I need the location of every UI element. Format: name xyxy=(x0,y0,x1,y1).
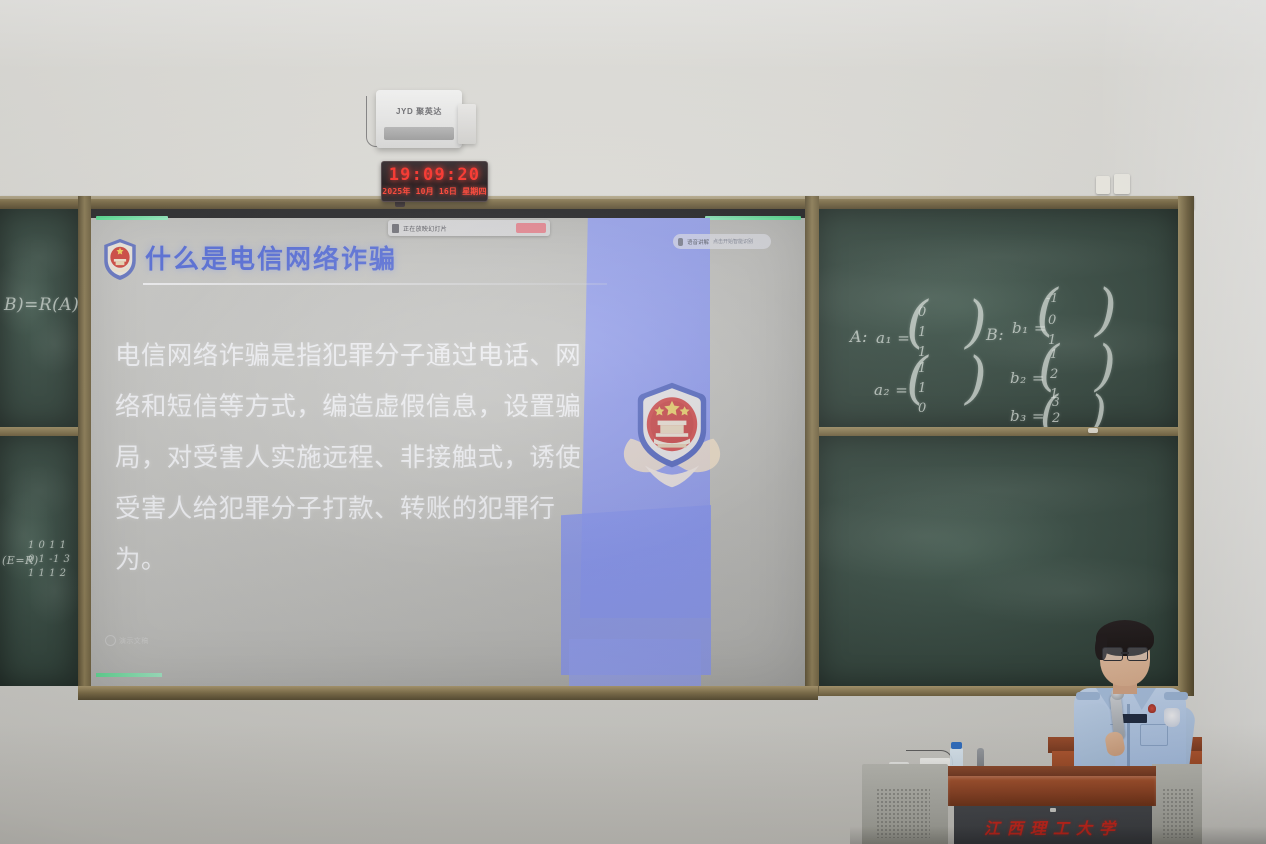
presenter-glasses xyxy=(1102,647,1148,659)
clock-date-display: 2025年 10月 16日 星期四 xyxy=(382,186,487,197)
end-slideshow-button[interactable] xyxy=(516,223,546,233)
glasses-lens-left xyxy=(1102,647,1123,661)
slide-body-text: 电信网络诈骗是指犯罪分子通过电话、网络和短信等方式，编造虚假信息，设置骗局，对受… xyxy=(115,331,583,586)
wall-control-device[interactable]: JYD 聚英达 xyxy=(376,90,462,148)
wall-device-secondary xyxy=(458,104,476,144)
board-rail-highlight xyxy=(0,196,1194,199)
podium-wood-panel xyxy=(948,776,1156,806)
chalk-text-left-b3: 0 1 -1 3 xyxy=(28,554,70,565)
voice-assist-label: 语音讲解 xyxy=(687,238,709,246)
device-vent xyxy=(384,127,454,140)
slide-police-badge-icon xyxy=(99,237,141,281)
chalk-stick xyxy=(1088,428,1098,433)
screen-top-bar xyxy=(91,209,805,218)
watermark-label: 演示文稿 xyxy=(119,636,149,646)
clock-time-display: 19:09:20 xyxy=(382,165,487,185)
presenter-epaulet-right xyxy=(1164,692,1188,700)
chalk-text-left-b2: 1 0 1 1 xyxy=(28,540,67,551)
chalk-smear xyxy=(818,209,1178,427)
classroom-scene: B)=R(A) (E=R) 1 0 1 1 0 1 -1 3 1 1 1 2 A… xyxy=(0,0,1266,844)
chalk-stick xyxy=(1096,176,1110,194)
device-brand-label: JYD 聚英达 xyxy=(376,106,462,117)
slide-decor-panel-3 xyxy=(569,639,701,686)
chalk-vector-a2-name: a₂ = xyxy=(874,381,908,399)
accent-strip-left xyxy=(96,216,168,220)
board-post-left xyxy=(78,196,91,696)
watermark-circle-icon xyxy=(105,635,116,646)
led-wall-clock: 19:09:20 2025年 10月 16日 星期四 xyxy=(381,161,488,202)
presenter-pocket-right xyxy=(1140,724,1168,746)
chalk-smear xyxy=(0,209,78,427)
slideshow-status-label: 正在放映幻灯片 xyxy=(403,224,512,233)
chalk-bracket-b1: ( ) xyxy=(1036,283,1117,339)
projection-screen[interactable]: 什么是电信网络诈骗 电信网络诈骗是指犯罪分子通过电话、网络和短信等方式，编造虚假… xyxy=(91,209,805,686)
presenter-epaulet-left xyxy=(1076,692,1100,700)
slideshow-toolbar[interactable]: 正在放映幻灯片 xyxy=(388,220,550,236)
accent-strip-bottom-left xyxy=(96,673,162,677)
glasses-bridge xyxy=(1121,652,1129,654)
board-post-middle xyxy=(805,196,819,696)
floor-shadow xyxy=(850,826,1266,844)
slide-title-divider xyxy=(143,283,607,285)
slide-watermark: 演示文稿 xyxy=(105,635,149,646)
blackboard-left-ledge xyxy=(0,427,78,436)
blackboard-right-upper: A: a₁ = 0 1 1 ( ) a₂ = 1 1 0 ( ) B: b₁ =… xyxy=(818,209,1178,427)
voice-assist-sublabel: 点击开始智能识别 xyxy=(713,238,753,245)
wall-top-highlight xyxy=(0,0,1266,70)
screen-bottom-rail xyxy=(78,686,818,700)
presentation-icon xyxy=(392,224,399,233)
slide-title: 什么是电信网络诈骗 xyxy=(145,239,397,276)
police-emblem-icon xyxy=(618,379,726,491)
microphone-icon xyxy=(678,238,683,246)
voice-assist-pill[interactable]: 语音讲解 点击开始智能识别 xyxy=(673,234,771,249)
chalk-label-B: B: xyxy=(986,325,1004,344)
blackboard-right-ledge xyxy=(818,427,1178,436)
chalk-bracket-a2: ( ) xyxy=(906,351,987,407)
chalk-label-A: A: xyxy=(850,327,868,346)
glasses-lens-right xyxy=(1127,647,1148,661)
presenter-shoulder-patch xyxy=(1164,708,1180,727)
blackboard-left-upper: B)=R(A) xyxy=(0,209,78,427)
chalk-bracket-a1: ( ) xyxy=(906,295,987,351)
accent-strip-right xyxy=(705,216,801,220)
board-eraser xyxy=(1114,174,1130,194)
chalk-text-left-b4: 1 1 1 2 xyxy=(28,568,67,579)
presenter-small-emblem-icon xyxy=(1148,704,1156,713)
chalk-text-left-top: B)=R(A) xyxy=(4,295,78,315)
chalk-bracket-b3: ( ) xyxy=(1040,389,1107,427)
blackboard-left-lower: (E=R) 1 0 1 1 0 1 -1 3 1 1 1 2 xyxy=(0,436,78,686)
